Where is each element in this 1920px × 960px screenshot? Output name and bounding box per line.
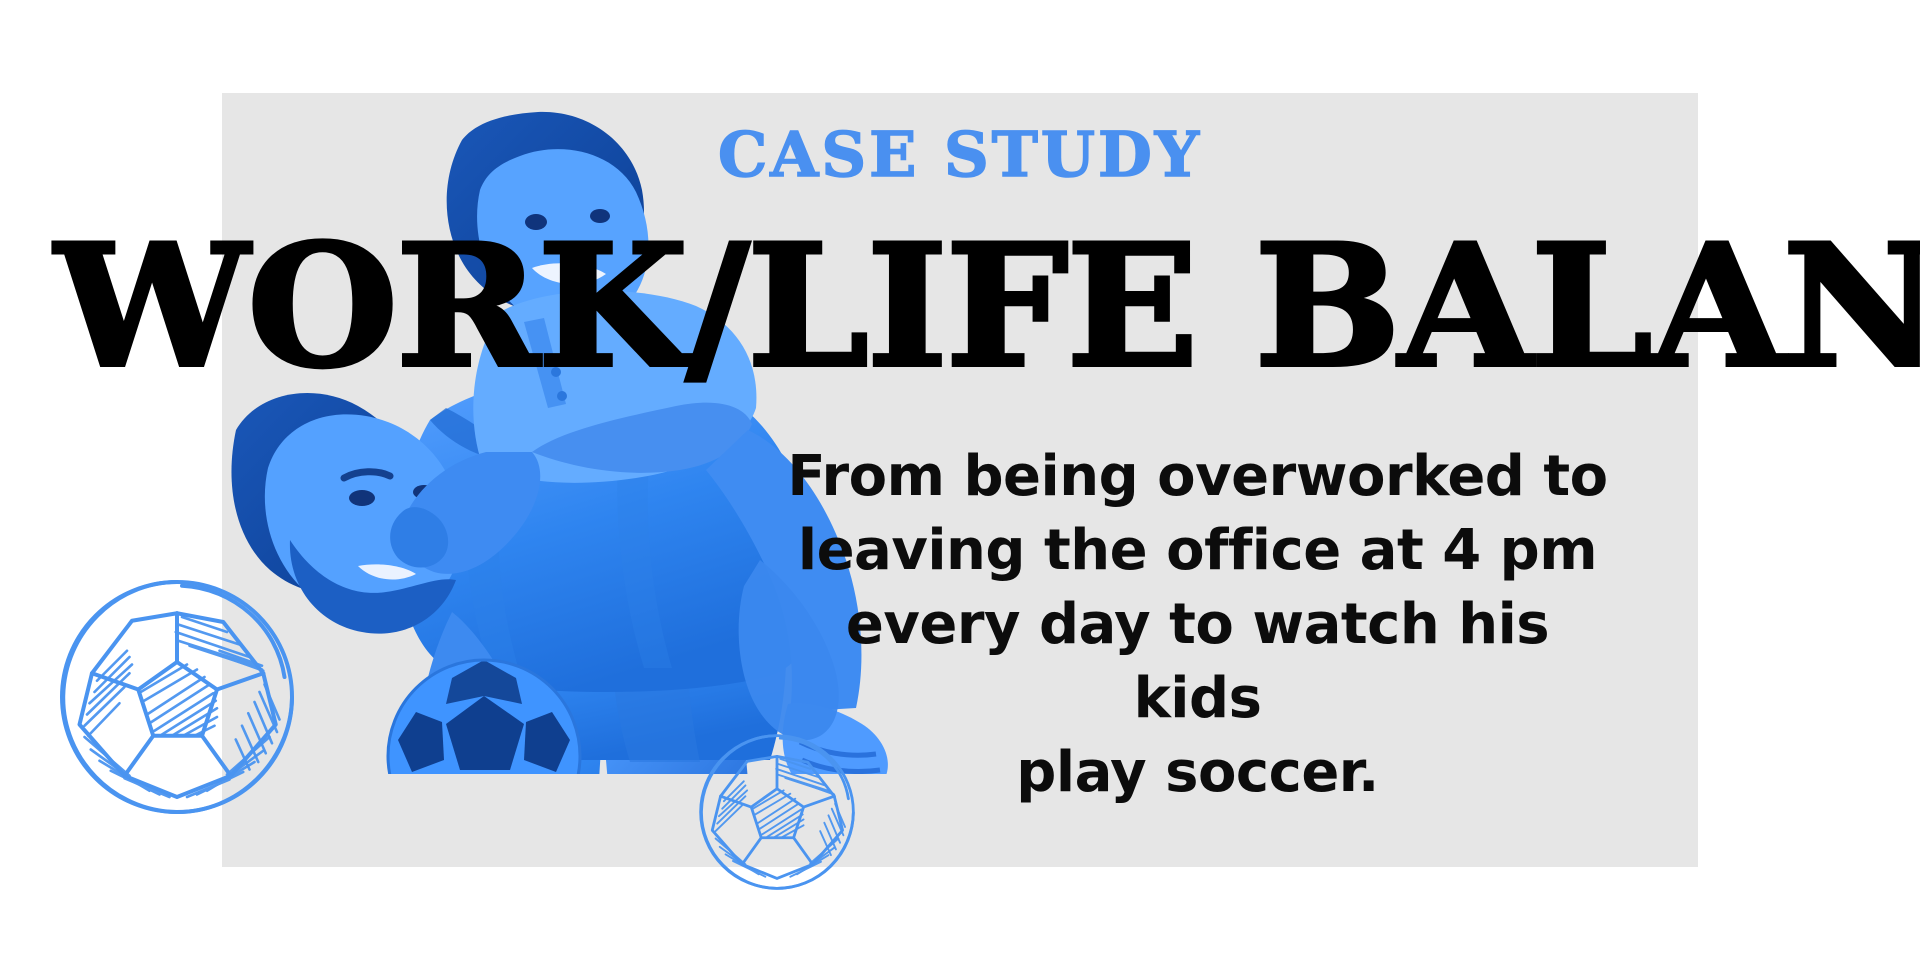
case-study-banner: CASE STUDY WORK/LIFE BALANCE From being … [0,0,1920,960]
eyebrow-label: CASE STUDY [0,124,1920,186]
body-paragraph: From being overworked to leaving the off… [775,440,1620,810]
headline-text: WORK/LIFE BALANCE [55,207,1920,405]
page-title: WORK/LIFE BALANCE [55,222,1919,390]
soccer-ball-sketch-icon [694,729,860,895]
soccer-ball-sketch-icon [52,572,302,822]
